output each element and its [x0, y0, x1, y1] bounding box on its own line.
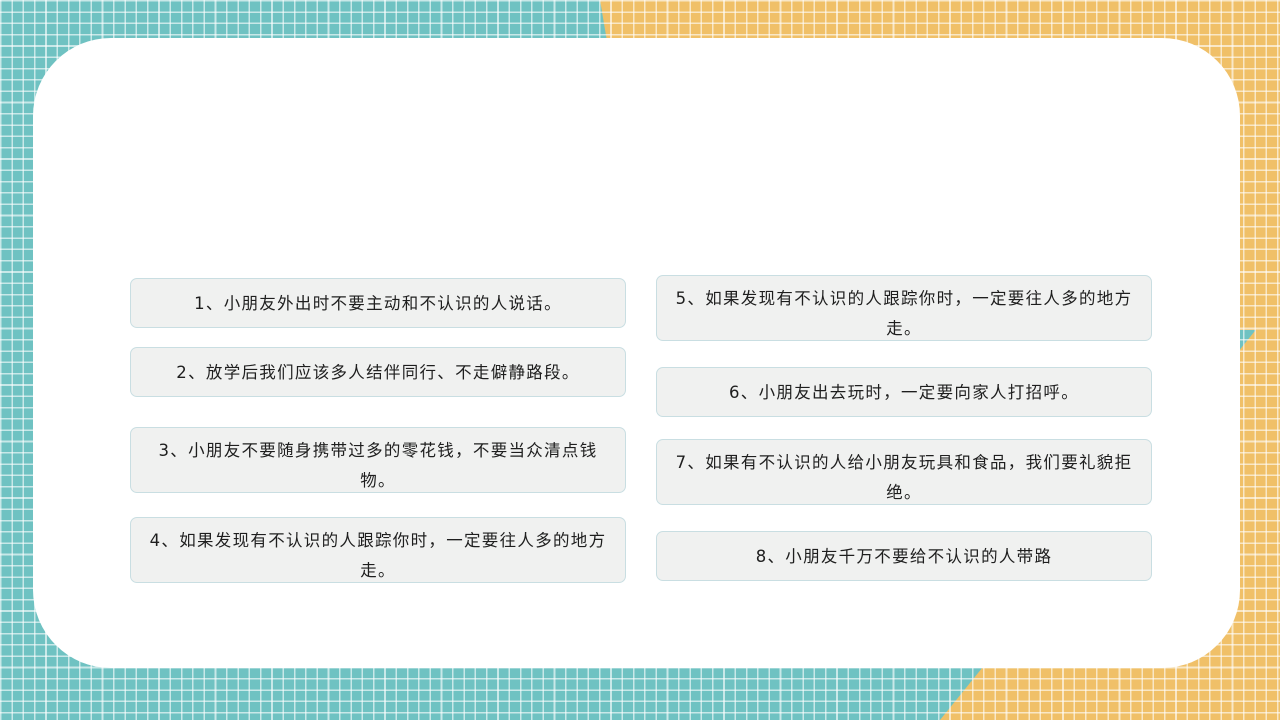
tip-item-1[interactable]: 1、小朋友外出时不要主动和不认识的人说话。 [130, 278, 626, 328]
tip-item-6[interactable]: 6、小朋友出去玩时，一定要向家人打招呼。 [656, 367, 1152, 417]
tip-item-2-text: 2、放学后我们应该多人结伴同行、不走僻静路段。 [131, 348, 625, 388]
tip-item-2[interactable]: 2、放学后我们应该多人结伴同行、不走僻静路段。 [130, 347, 626, 397]
tip-item-6-text: 6、小朋友出去玩时，一定要向家人打招呼。 [657, 368, 1151, 408]
tip-item-3-text: 3、小朋友不要随身携带过多的零花钱，不要当众清点钱物。 [131, 428, 625, 496]
tip-item-1-text: 1、小朋友外出时不要主动和不认识的人说话。 [131, 279, 625, 319]
tip-item-4-text: 4、如果发现有不认识的人跟踪你时，一定要往人多的地方走。 [131, 518, 625, 586]
tip-item-7[interactable]: 7、如果有不认识的人给小朋友玩具和食品，我们要礼貌拒绝。 [656, 439, 1152, 505]
tip-item-3[interactable]: 3、小朋友不要随身携带过多的零花钱，不要当众清点钱物。 [130, 427, 626, 493]
tip-item-8[interactable]: 8、小朋友千万不要给不认识的人带路 [656, 531, 1152, 581]
tip-item-5-text: 5、如果发现有不认识的人跟踪你时，一定要往人多的地方走。 [657, 276, 1151, 344]
tip-item-4[interactable]: 4、如果发现有不认识的人跟踪你时，一定要往人多的地方走。 [130, 517, 626, 583]
tip-item-8-text: 8、小朋友千万不要给不认识的人带路 [657, 532, 1151, 572]
tip-item-7-text: 7、如果有不认识的人给小朋友玩具和食品，我们要礼貌拒绝。 [657, 440, 1151, 508]
tip-item-5[interactable]: 5、如果发现有不认识的人跟踪你时，一定要往人多的地方走。 [656, 275, 1152, 341]
